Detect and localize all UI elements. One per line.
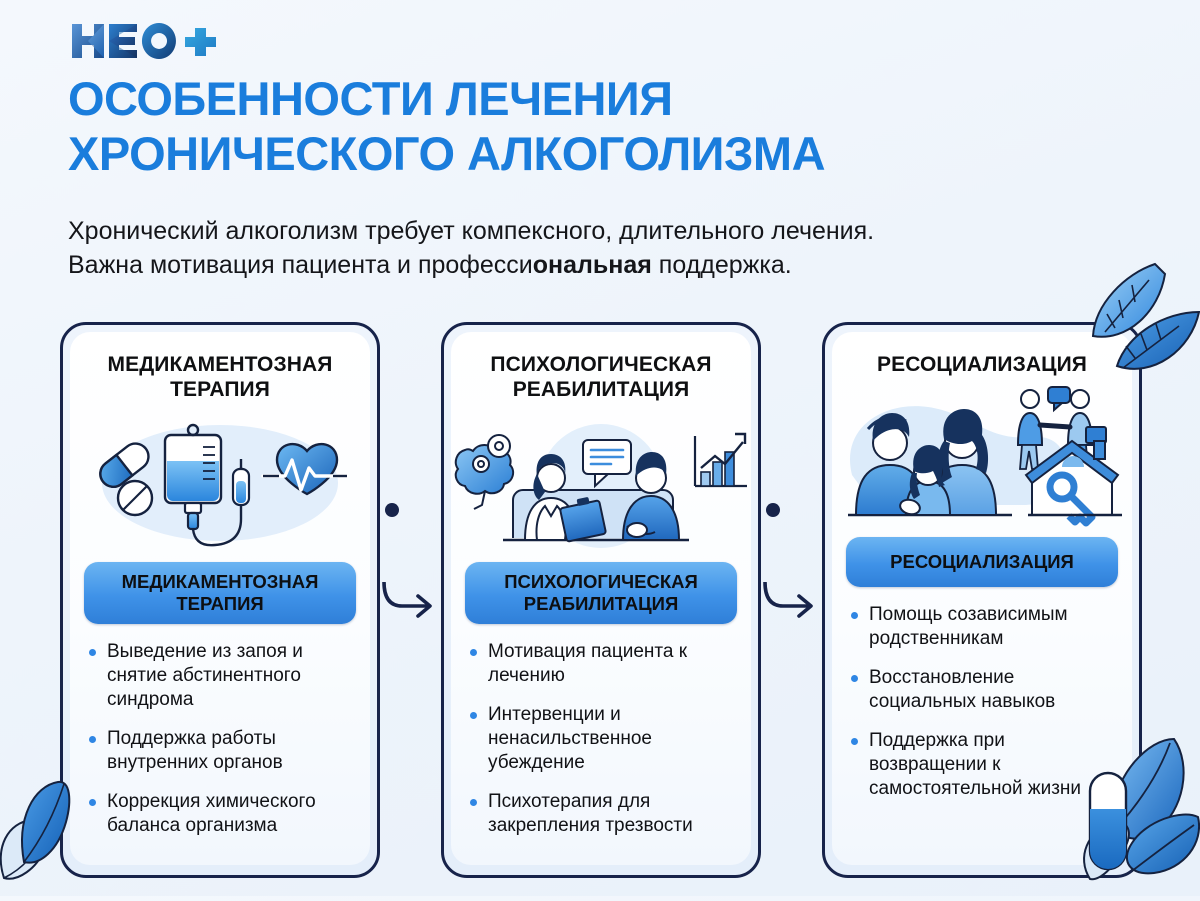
list-item: Восстановление социальных навыков (850, 666, 1118, 714)
infographic-page: ОСОБЕННОСТИ ЛЕЧЕНИЯ ХРОНИЧЕСКОГО АЛКОГОЛ… (0, 0, 1200, 896)
list-item: Мотивация пациента к лечению (469, 640, 737, 688)
card-bullet-list: Выведение из запоя и снятие абстинентног… (70, 640, 370, 838)
card-inner: МЕДИКАМЕНТОЗНАЯ ТЕРАПИЯ (70, 332, 370, 865)
card-badge[interactable]: МЕДИКАМЕНТОЗНАЯ ТЕРАПИЯ (84, 562, 356, 624)
card-title: РЕСОЦИАЛИЗАЦИЯ (832, 332, 1132, 377)
list-item: Интервенции и ненасильственное убеждение (469, 703, 737, 775)
rehabilitation-illustration (451, 408, 751, 558)
card-bullet-list: Мотивация пациента к лечению Интервенции… (451, 640, 751, 838)
page-subtitle: Хронический алкоголизм требует компексно… (68, 214, 1108, 282)
page-title-line1: ОСОБЕННОСТИ ЛЕЧЕНИЯ (68, 72, 672, 125)
page-title-line2: ХРОНИЧЕСКОГО АЛКОГОЛИЗМА (68, 127, 1158, 182)
card-medication-therapy[interactable]: МЕДИКАМЕНТОЗНАЯ ТЕРАПИЯ (60, 322, 380, 878)
card-psychological-rehabilitation[interactable]: ПСИХОЛОГИЧЕСКАЯ РЕАБИЛИТАЦИЯ (441, 322, 761, 878)
card-inner: РЕСОЦИАЛИЗАЦИЯ (832, 332, 1132, 865)
subtitle-line-2: Важна мотивация пациента и профессиональ… (68, 248, 1108, 282)
cards-row: МЕДИКАМЕНТОЗНАЯ ТЕРАПИЯ (60, 322, 1145, 882)
card-badge[interactable]: ПСИХОЛОГИЧЕСКАЯ РЕАБИЛИТАЦИЯ (465, 562, 737, 624)
connector-card1-to-card2 (378, 322, 448, 882)
card-title: ПСИХОЛОГИЧЕСКАЯ РЕАБИЛИТАЦИЯ (451, 332, 751, 402)
resocialization-illustration (832, 383, 1132, 533)
card-bullet-list: Помощь созависимым родственникам Восстан… (832, 603, 1132, 801)
connector-card2-to-card3 (759, 322, 829, 882)
card-inner: ПСИХОЛОГИЧЕСКАЯ РЕАБИЛИТАЦИЯ (451, 332, 751, 865)
card-title: МЕДИКАМЕНТОЗНАЯ ТЕРАПИЯ (70, 332, 370, 402)
list-item: Помощь созависимым родственникам (850, 603, 1118, 651)
list-item: Психотерапия для закрепления трезвости (469, 790, 737, 838)
card-resocialization[interactable]: РЕСОЦИАЛИЗАЦИЯ (822, 322, 1142, 878)
subtitle-line2-post: поддержка. (652, 251, 792, 279)
subtitle-line2-bold: ональная (533, 251, 652, 279)
list-item: Выведение из запоя и снятие абстинентног… (88, 640, 356, 712)
page-title: ОСОБЕННОСТИ ЛЕЧЕНИЯ ХРОНИЧЕСКОГО АЛКОГОЛ… (68, 72, 1158, 181)
list-item: Поддержка работы внутренних органов (88, 727, 356, 775)
card-badge[interactable]: РЕСОЦИАЛИЗАЦИЯ (846, 537, 1118, 587)
subtitle-line-1: Хронический алкоголизм требует компексно… (68, 214, 1108, 248)
subtitle-line2-pre: Важна мотивация пациента и професси (68, 251, 533, 279)
brand-logo (68, 18, 228, 64)
list-item: Поддержка при возвращении к самостоятель… (850, 729, 1118, 801)
list-item: Коррекция химического баланса организма (88, 790, 356, 838)
medication-illustration (70, 408, 370, 558)
